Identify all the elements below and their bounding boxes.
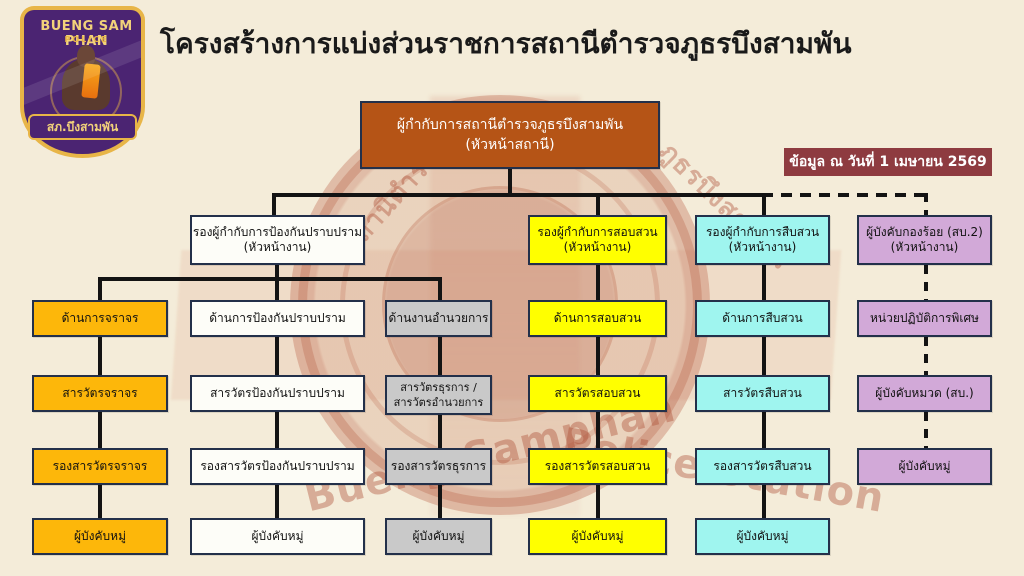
node-special-ops-squad-leader-label: ผู้บังคับหมู่ [899, 459, 951, 474]
connector-drop-administration [438, 277, 442, 300]
node-deputy-special-ops-line2: (หัวหน้างาน) [891, 240, 959, 255]
node-traffic-deputy-inspector[interactable]: รองสารวัตรจราจร [32, 448, 168, 485]
node-root-line2: (หัวหน้าสถานี) [465, 135, 554, 155]
page-header: โครงสร้างการแบ่งส่วนราชการสถานีตำรวจภูธร… [0, 0, 1024, 95]
connector-drop-deputy-special-ops [924, 193, 928, 215]
node-administration-squad-leader-label: ผู้บังคับหมู่ [413, 529, 465, 544]
connector-prevention-2-3 [275, 412, 279, 448]
node-deputy-inquiry[interactable]: รองผู้กำกับการสอบสวน (หัวหน้างาน) [528, 215, 667, 265]
node-prevention-deputy-inspector[interactable]: รองสารวัตรป้องกันปราบปราม [190, 448, 365, 485]
badge-ribbon: สภ.บึงสามพัน [28, 114, 137, 140]
connector-main-bus [272, 193, 764, 197]
node-administration-division-label: ด้านงานอำนวยการ [389, 311, 489, 326]
node-prevention-deputy-inspector-label: รองสารวัตรป้องกันปราบปราม [200, 459, 354, 474]
node-inquiry-deputy-inspector-label: รองสารวัตรสอบสวน [545, 459, 650, 474]
connector-drop-detective-row3 [762, 265, 766, 300]
connector-drop-deputy-detective [762, 193, 766, 215]
node-inquiry-squad-leader[interactable]: ผู้บังคับหมู่ [528, 518, 667, 555]
node-deputy-detective-line2: (หัวหน้างาน) [729, 240, 797, 255]
connector-inquiry-2-3 [596, 412, 600, 448]
node-deputy-special-ops-line1: ผู้บังคับกองร้อย (สบ.2) [866, 225, 983, 240]
connector-special-ops-2-3 [924, 412, 928, 448]
connector-administration-2-3 [438, 415, 442, 448]
node-traffic-division[interactable]: ด้านการจราจร [32, 300, 168, 337]
connector-drop-deputy-inquiry [596, 193, 600, 215]
node-administration-inspector[interactable]: สารวัตรธุรการ / สารวัตรอำนวยการ [385, 375, 492, 415]
node-inquiry-deputy-inspector[interactable]: รองสารวัตรสอบสวน [528, 448, 667, 485]
node-root-line1: ผู้กำกับการสถานีตำรวจภูธรบึงสามพัน [397, 115, 623, 135]
data-date-badge: ข้อมูล ณ วันที่ 1 เมษายน 2569 [784, 148, 992, 176]
node-detective-inspector-label: สารวัตรสืบสวน [723, 386, 802, 401]
node-inquiry-division[interactable]: ด้านการสอบสวน [528, 300, 667, 337]
node-traffic-squad-leader[interactable]: ผู้บังคับหมู่ [32, 518, 168, 555]
node-special-ops-unit-label: หน่วยปฏิบัติการพิเศษ [870, 311, 979, 326]
node-special-ops-unit[interactable]: หน่วยปฏิบัติการพิเศษ [857, 300, 992, 337]
connector-prevention-bus [98, 277, 442, 281]
node-detective-squad-leader-label: ผู้บังคับหมู่ [737, 529, 789, 544]
node-administration-squad-leader[interactable]: ผู้บังคับหมู่ [385, 518, 492, 555]
node-inquiry-inspector[interactable]: สารวัตรสอบสวน [528, 375, 667, 412]
connector-detective-2-3 [762, 412, 766, 448]
connector-administration-1-2 [438, 337, 442, 375]
node-traffic-deputy-inspector-label: รองสารวัตรจราจร [53, 459, 148, 474]
connector-inquiry-3-4 [596, 485, 600, 518]
node-traffic-division-label: ด้านการจราจร [62, 311, 139, 326]
node-special-ops-platoon-leader[interactable]: ผู้บังคับหมวด (สบ.) [857, 375, 992, 412]
node-traffic-inspector-label: สารวัตรจราจร [62, 386, 137, 401]
connector-main-bus-dashed [762, 193, 928, 197]
node-root-superintendent[interactable]: ผู้กำกับการสถานีตำรวจภูธรบึงสามพัน (หัวห… [360, 101, 660, 169]
node-deputy-prevention[interactable]: รองผู้กำกับการป้องกันปราบปราม (หัวหน้างา… [190, 215, 365, 265]
connector-detective-3-4 [762, 485, 766, 518]
node-special-ops-platoon-leader-label: ผู้บังคับหมวด (สบ.) [875, 386, 973, 401]
node-prevention-squad-leader[interactable]: ผู้บังคับหมู่ [190, 518, 365, 555]
node-inquiry-division-label: ด้านการสอบสวน [554, 311, 642, 326]
buddha-figure-icon [62, 58, 110, 110]
connector-traffic-1-2 [98, 337, 102, 375]
node-traffic-inspector[interactable]: สารวัตรจราจร [32, 375, 168, 412]
badge-ribbon-text: สภ.บึงสามพัน [47, 118, 118, 137]
connector-inquiry-1-2 [596, 337, 600, 375]
connector-drop-inquiry-row3 [596, 265, 600, 300]
connector-drop-prevention [275, 277, 279, 300]
node-deputy-detective[interactable]: รองผู้กำกับการสืบสวน (หัวหน้างาน) [695, 215, 830, 265]
node-administration-deputy-inspector-label: รองสารวัตรธุรการ [391, 459, 486, 474]
connector-root-stem [508, 169, 512, 195]
node-detective-deputy-inspector[interactable]: รองสารวัตรสืบสวน [695, 448, 830, 485]
node-prevention-inspector[interactable]: สารวัตรป้องกันปราบปราม [190, 375, 365, 412]
node-prevention-squad-leader-label: ผู้บังคับหมู่ [252, 529, 304, 544]
node-deputy-inquiry-line2: (หัวหน้างาน) [564, 240, 632, 255]
node-detective-inspector[interactable]: สารวัตรสืบสวน [695, 375, 830, 412]
connector-detective-1-2 [762, 337, 766, 375]
node-inquiry-squad-leader-label: ผู้บังคับหมู่ [572, 529, 624, 544]
police-logo-badge: BUENG SAM PHAN POLICE สภ.บึงสามพัน [20, 6, 145, 158]
node-inquiry-inspector-label: สารวัตรสอบสวน [555, 386, 641, 401]
connector-drop-deputy-prevention [272, 193, 276, 215]
connector-administration-3-4 [438, 485, 442, 518]
node-administration-inspector-line2: สารวัตรอำนวยการ [394, 395, 484, 410]
page-title: โครงสร้างการแบ่งส่วนราชการสถานีตำรวจภูธร… [160, 22, 1000, 66]
node-deputy-detective-line1: รองผู้กำกับการสืบสวน [706, 225, 819, 240]
node-prevention-division-label: ด้านการป้องกันปราบปราม [209, 311, 345, 326]
connector-traffic-2-3 [98, 412, 102, 448]
node-administration-inspector-line1: สารวัตรธุรการ / [400, 380, 477, 395]
connector-drop-traffic [98, 277, 102, 300]
node-detective-deputy-inspector-label: รองสารวัตรสืบสวน [713, 459, 811, 474]
node-special-ops-squad-leader[interactable]: ผู้บังคับหมู่ [857, 448, 992, 485]
node-detective-division-label: ด้านการสืบสวน [722, 311, 802, 326]
connector-special-ops-1-2 [924, 337, 928, 375]
connector-prevention-1-2 [275, 337, 279, 375]
node-deputy-prevention-line2: (หัวหน้างาน) [244, 240, 312, 255]
node-prevention-division[interactable]: ด้านการป้องกันปราบปราม [190, 300, 365, 337]
node-detective-division[interactable]: ด้านการสืบสวน [695, 300, 830, 337]
node-deputy-prevention-line1: รองผู้กำกับการป้องกันปราบปราม [193, 225, 362, 240]
connector-prevention-3-4 [275, 485, 279, 518]
node-prevention-inspector-label: สารวัตรป้องกันปราบปราม [210, 386, 345, 401]
node-administration-division[interactable]: ด้านงานอำนวยการ [385, 300, 492, 337]
node-deputy-special-ops[interactable]: ผู้บังคับกองร้อย (สบ.2) (หัวหน้างาน) [857, 215, 992, 265]
connector-traffic-3-4 [98, 485, 102, 518]
node-administration-deputy-inspector[interactable]: รองสารวัตรธุรการ [385, 448, 492, 485]
node-traffic-squad-leader-label: ผู้บังคับหมู่ [74, 529, 126, 544]
node-detective-squad-leader[interactable]: ผู้บังคับหมู่ [695, 518, 830, 555]
node-deputy-inquiry-line1: รองผู้กำกับการสอบสวน [537, 225, 657, 240]
connector-drop-special-ops-row3 [924, 265, 928, 300]
badge-sub-text: POLICE [24, 35, 145, 44]
